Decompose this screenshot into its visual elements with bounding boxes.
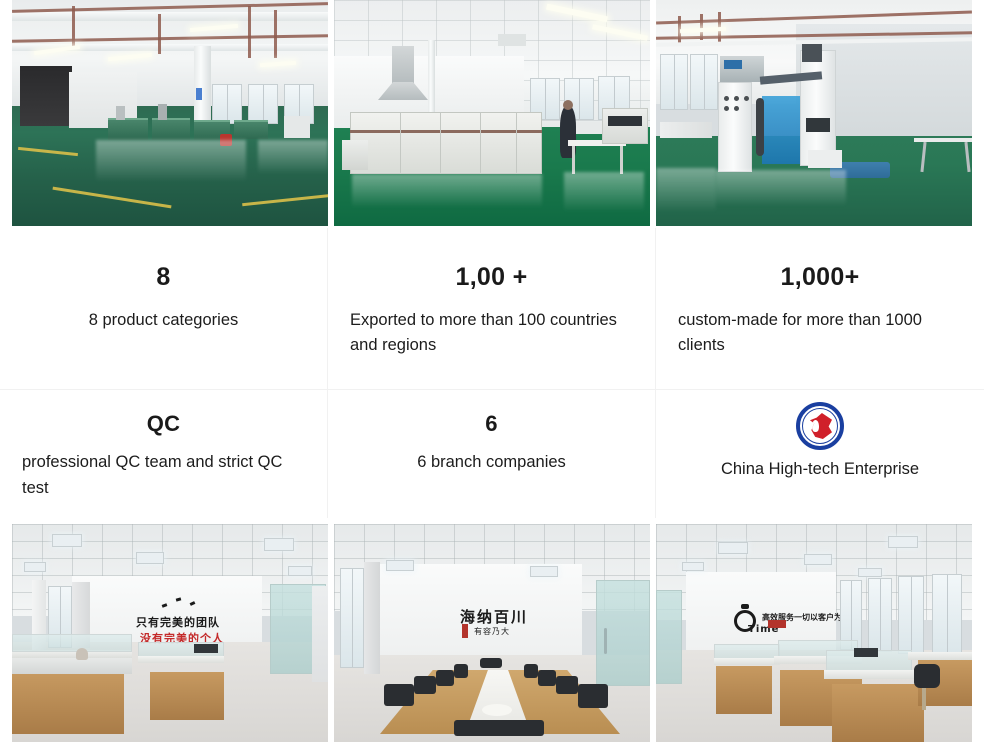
workstation-base xyxy=(12,658,132,674)
stat-cell-custom-made-clients: 1,000+ custom-made for more than 1000 cl… xyxy=(656,228,984,390)
dark-doorway xyxy=(20,66,72,126)
floor-reflection xyxy=(656,168,716,212)
scene-test-room xyxy=(656,0,972,226)
conference-chair xyxy=(454,664,468,678)
scene-reflow-oven xyxy=(334,0,650,226)
red-pipe-drop xyxy=(274,10,277,58)
ceiling-light-panel xyxy=(386,560,414,571)
window xyxy=(898,576,924,654)
production-machine xyxy=(108,118,148,140)
work-table-leg xyxy=(620,146,623,174)
conference-chair xyxy=(436,670,454,686)
photo-factory-production-floor[interactable] xyxy=(12,0,328,226)
workstation-counter-top xyxy=(138,656,224,663)
window xyxy=(212,84,242,124)
stats-band: 8 8 product categories 1,00 + Exported t… xyxy=(0,228,984,518)
scene-conference-room: 海纳百川 有容乃大 xyxy=(334,524,650,742)
photo-conference-room[interactable]: 海纳百川 有容乃大 xyxy=(334,524,650,742)
blue-test-chamber xyxy=(762,96,802,164)
oven-panel-divider xyxy=(400,112,401,174)
production-machine xyxy=(152,118,190,140)
ceiling-vent xyxy=(498,34,526,46)
photo-reflow-oven-line[interactable] xyxy=(334,0,650,226)
stat-cell-product-categories: 8 8 product categories xyxy=(0,228,328,390)
office-chair xyxy=(914,664,940,688)
company-strength-page: 8 8 product categories 1,00 + Exported t… xyxy=(0,0,984,750)
workstation-wood-panel xyxy=(12,672,124,734)
conference-chair xyxy=(414,676,436,694)
floor-reflection xyxy=(96,140,246,182)
oven-conveyor-exit xyxy=(342,140,368,170)
china-high-tech-enterprise-logo-icon xyxy=(796,402,844,450)
machine-head-unit xyxy=(802,44,822,62)
ceiling-light-panel xyxy=(718,542,748,554)
photo-office-workstations-slogan[interactable]: 只有完美的团队 没有完美的个人 xyxy=(12,524,328,742)
stat-cell-export-countries: 1,00 + Exported to more than 100 countri… xyxy=(328,228,656,390)
stat-value: 6 xyxy=(350,412,633,436)
ceiling-light-panel xyxy=(264,538,294,551)
machine-dark-window xyxy=(806,118,830,132)
stat-value: 1,00 + xyxy=(350,264,633,292)
ceiling-light-panel xyxy=(24,562,46,572)
red-pipe-drop xyxy=(248,6,251,58)
window xyxy=(932,574,962,656)
glass-partition-wall xyxy=(656,590,682,684)
top-gallery xyxy=(0,0,984,226)
stat-value: 8 xyxy=(22,264,305,292)
control-panel-knob xyxy=(724,106,729,111)
window xyxy=(868,578,892,652)
oven-trim xyxy=(350,130,542,133)
wall-slogan-highlight xyxy=(768,620,786,628)
workstation-wood-panel xyxy=(150,672,224,720)
stat-cell-branch-companies: 6 6 branch companies xyxy=(328,390,656,518)
ceiling-light-panel xyxy=(136,552,164,564)
stats-grid: 8 8 product categories 1,00 + Exported t… xyxy=(0,228,984,518)
wall-slogan-primary: 只有完美的团队 xyxy=(136,614,220,630)
stat-value: QC xyxy=(22,412,305,436)
workstation-wood-panel xyxy=(832,684,924,742)
scene-factory-floor xyxy=(12,0,328,226)
monitor xyxy=(194,644,218,653)
conference-chair xyxy=(578,684,608,708)
machine-head xyxy=(116,106,125,120)
side-desk-top xyxy=(908,652,972,660)
control-panel-knob xyxy=(734,106,739,111)
window xyxy=(690,54,718,110)
wall-sign xyxy=(196,88,202,100)
conference-chair xyxy=(480,658,502,668)
ceiling-light-panel xyxy=(682,562,704,571)
stat-description: custom-made for more than 1000 clients xyxy=(678,308,962,359)
ceiling-light-panel xyxy=(288,566,312,576)
red-pipe-drop xyxy=(72,6,75,46)
photo-office-workstations-time[interactable]: Time 高效服务一切以客户为先 xyxy=(656,524,972,742)
ceiling-light-panel xyxy=(52,534,82,547)
workstation-glass-divider xyxy=(12,634,132,652)
window-curtain xyxy=(364,562,380,674)
cable-bundle xyxy=(756,98,764,156)
conference-chair xyxy=(538,670,556,686)
oven-panel-divider xyxy=(440,112,441,174)
control-panel-knob xyxy=(744,96,749,101)
support-column xyxy=(194,46,211,122)
calligraphy-seal xyxy=(462,624,468,638)
equipment-display xyxy=(724,60,742,69)
oven-panel-divider xyxy=(480,112,481,174)
stat-description: 8 product categories xyxy=(22,308,305,334)
conference-chair xyxy=(556,676,578,694)
scene-office-1: 只有完美的团队 没有完美的个人 xyxy=(12,524,328,742)
office-chair-base xyxy=(922,688,926,710)
badge-wrap: China High-tech Enterprise xyxy=(678,402,962,479)
worker-head xyxy=(563,100,573,110)
window xyxy=(660,54,688,110)
exhaust-hood xyxy=(392,46,414,84)
oven-panel-divider xyxy=(516,112,517,174)
floor-reflection xyxy=(716,170,846,206)
ceiling-light-panel xyxy=(888,536,918,548)
wall-calligraphy-primary: 海纳百川 xyxy=(460,606,528,627)
floor-reflection xyxy=(564,172,644,212)
conference-chair xyxy=(524,664,538,678)
stat-cell-qc-team: QC professional QC team and strict QC te… xyxy=(0,390,328,518)
glass-door-handle xyxy=(604,628,607,654)
machine-head xyxy=(158,104,167,120)
production-machine xyxy=(234,120,268,139)
window xyxy=(340,568,364,668)
equipment-cabinet xyxy=(284,116,310,138)
desk-chair xyxy=(76,648,88,660)
floor-reflection xyxy=(258,140,328,174)
radiator xyxy=(660,122,712,138)
corridor xyxy=(312,586,328,682)
workstation-counter-top xyxy=(824,670,924,679)
conference-chair xyxy=(384,684,414,706)
stat-description: professional QC team and strict QC test xyxy=(22,450,305,501)
inspection-machine-window xyxy=(608,116,642,126)
bottom-gallery: 只有完美的团队 没有完美的个人 xyxy=(0,524,984,742)
ceiling-light-panel xyxy=(858,568,882,577)
window xyxy=(248,84,278,124)
photo-testing-equipment-room[interactable] xyxy=(656,0,972,226)
ceiling-light-panel xyxy=(530,566,558,577)
workstation-counter-top xyxy=(714,658,780,665)
step-platform xyxy=(808,150,842,168)
stopwatch-crown xyxy=(741,604,749,609)
monitor xyxy=(854,648,878,657)
workstation-wood-panel xyxy=(716,666,772,714)
stat-description: 6 branch companies xyxy=(350,450,633,476)
scene-office-2: Time 高效服务一切以客户为先 xyxy=(656,524,972,742)
ceiling-beam xyxy=(12,12,328,21)
table-centerpiece xyxy=(482,704,512,716)
floor-reflection xyxy=(352,174,542,208)
reflow-oven-body xyxy=(350,112,542,174)
stat-description: Exported to more than 100 countries and … xyxy=(350,308,633,359)
inspection-machine xyxy=(602,108,648,144)
work-table-leg xyxy=(572,146,575,174)
ceiling-light-panel xyxy=(804,554,832,565)
stat-value: 1,000+ xyxy=(678,264,962,292)
wall-calligraphy-secondary: 有容乃大 xyxy=(474,626,510,637)
conference-chair-foreground xyxy=(454,720,544,736)
control-panel-knob xyxy=(724,96,729,101)
test-machine-tower xyxy=(800,50,836,166)
red-pipe-drop xyxy=(158,14,161,54)
control-panel-knob xyxy=(734,96,739,101)
badge-label: China High-tech Enterprise xyxy=(721,460,919,479)
stat-cell-high-tech-enterprise: China High-tech Enterprise xyxy=(656,390,984,518)
